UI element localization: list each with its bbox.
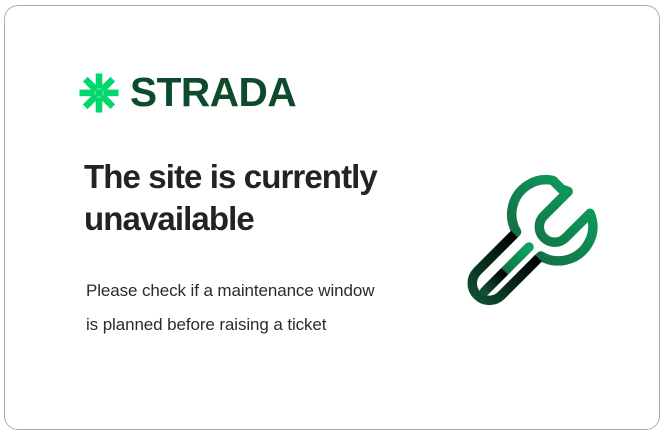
page-description: Please check if a maintenance window is … <box>86 274 391 342</box>
strada-asterisk-icon <box>79 73 119 113</box>
brand-lockup: STRADA <box>79 72 298 113</box>
error-page-card: STRADA The site is currently unavailable… <box>4 5 660 430</box>
page-title: The site is currently unavailable <box>84 156 414 239</box>
wrench-icon <box>457 158 621 322</box>
brand-wordmark: STRADA <box>130 72 296 113</box>
